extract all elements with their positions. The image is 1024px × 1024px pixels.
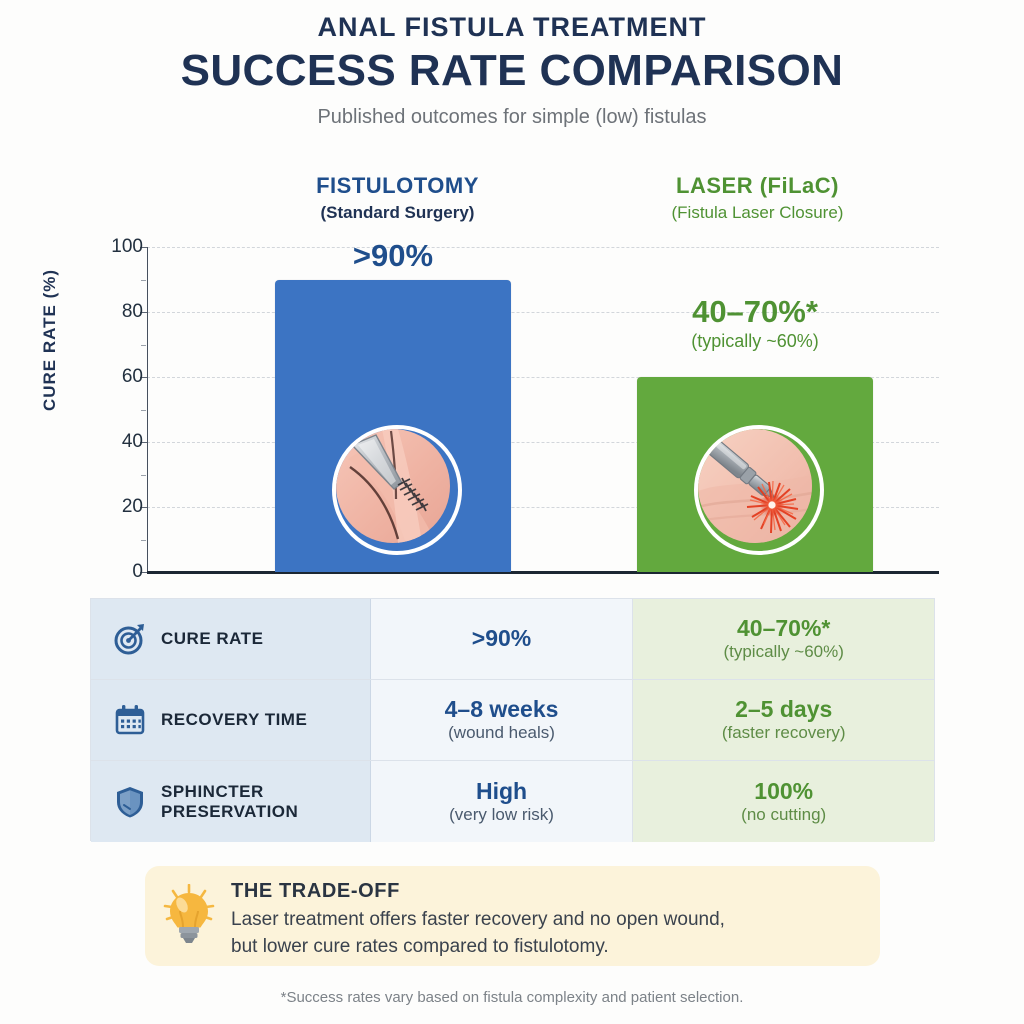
table-cell-primary-value: 4–8 weeks	[445, 697, 559, 722]
y-tick-label: 20	[99, 496, 143, 518]
table-cell-primary-value: 40–70%*	[737, 616, 830, 641]
table-cell-primary-value: >90%	[472, 626, 531, 651]
infographic-root: ANAL FISTULA TREATMENT SUCCESS RATE COMP…	[0, 0, 1024, 1024]
table-cell-primary-value: 2–5 days	[735, 697, 832, 722]
table-cell-laser: 2–5 days(faster recovery)	[633, 680, 934, 760]
bar-value-label-laser: 40–70%* (typically ~60%)	[637, 296, 873, 352]
trade-off-callout: THE TRADE-OFF Laser treatment offers fas…	[145, 866, 880, 966]
callout-line-1: Laser treatment offers faster recovery a…	[231, 907, 725, 934]
scalpel-incision-illustration	[332, 425, 462, 555]
bar-value-label-fistulotomy: >90%	[275, 240, 511, 273]
bar-value-laser: 40–70%*	[637, 296, 873, 329]
table-cell-secondary-value: (wound heals)	[448, 723, 555, 743]
table-cell-fistulotomy: 4–8 weeks(wound heals)	[371, 680, 634, 760]
y-tick-label: 0	[99, 561, 143, 583]
calendar-icon	[113, 703, 147, 737]
table-cell-fistulotomy: >90%	[371, 599, 634, 679]
table-row-label-cell: CURE RATE	[91, 599, 371, 679]
y-tick-label: 100	[99, 236, 143, 258]
comparison-table: CURE RATE>90%40–70%*(typically ~60%)RECO…	[90, 598, 935, 841]
table-cell-secondary-value: (very low risk)	[449, 805, 554, 825]
table-row-label: CURE RATE	[161, 629, 263, 649]
lightbulb-icon	[163, 884, 215, 946]
table-row-label-cell: SPHINCTER PRESERVATION	[91, 761, 371, 842]
table-cell-secondary-value: (typically ~60%)	[723, 642, 843, 662]
callout-line-2: but lower cure rates compared to fistulo…	[231, 934, 725, 961]
table-row-label: SPHINCTER PRESERVATION	[161, 782, 370, 821]
table-cell-laser: 40–70%*(typically ~60%)	[633, 599, 934, 679]
bar-value-laser-note: (typically ~60%)	[637, 331, 873, 353]
table-cell-primary-value: 100%	[754, 779, 813, 804]
y-tick-label: 80	[99, 301, 143, 323]
table-cell-fistulotomy: High(very low risk)	[371, 761, 634, 842]
table-cell-secondary-value: (faster recovery)	[722, 723, 846, 743]
callout-title: THE TRADE-OFF	[231, 880, 725, 903]
table-row: SPHINCTER PRESERVATIONHigh(very low risk…	[91, 761, 934, 842]
footnote: *Success rates vary based on fistula com…	[0, 989, 1024, 1006]
bar-chart: CURE RATE (%) 020406080100 >90% 40–70%* …	[0, 0, 1024, 600]
table-row-label-cell: RECOVERY TIME	[91, 680, 371, 760]
y-tick-label: 40	[99, 431, 143, 453]
bar-value-fistulotomy: >90%	[275, 240, 511, 273]
y-axis-title: CURE RATE (%)	[40, 230, 60, 450]
table-cell-secondary-value: (no cutting)	[741, 805, 826, 825]
target-icon	[113, 622, 147, 656]
y-axis-line	[147, 247, 148, 572]
shield-icon	[113, 785, 147, 819]
table-row: RECOVERY TIME4–8 weeks(wound heals)2–5 d…	[91, 680, 934, 761]
y-tick-label: 60	[99, 366, 143, 388]
y-axis-tick-labels: 020406080100	[95, 0, 143, 600]
gridline	[147, 247, 939, 248]
laser-probe-illustration	[694, 425, 824, 555]
callout-text-block: THE TRADE-OFF Laser treatment offers fas…	[231, 880, 725, 961]
table-row: CURE RATE>90%40–70%*(typically ~60%)	[91, 599, 934, 680]
table-row-label: RECOVERY TIME	[161, 710, 307, 730]
table-cell-primary-value: High	[476, 779, 527, 804]
table-cell-laser: 100%(no cutting)	[633, 761, 934, 842]
